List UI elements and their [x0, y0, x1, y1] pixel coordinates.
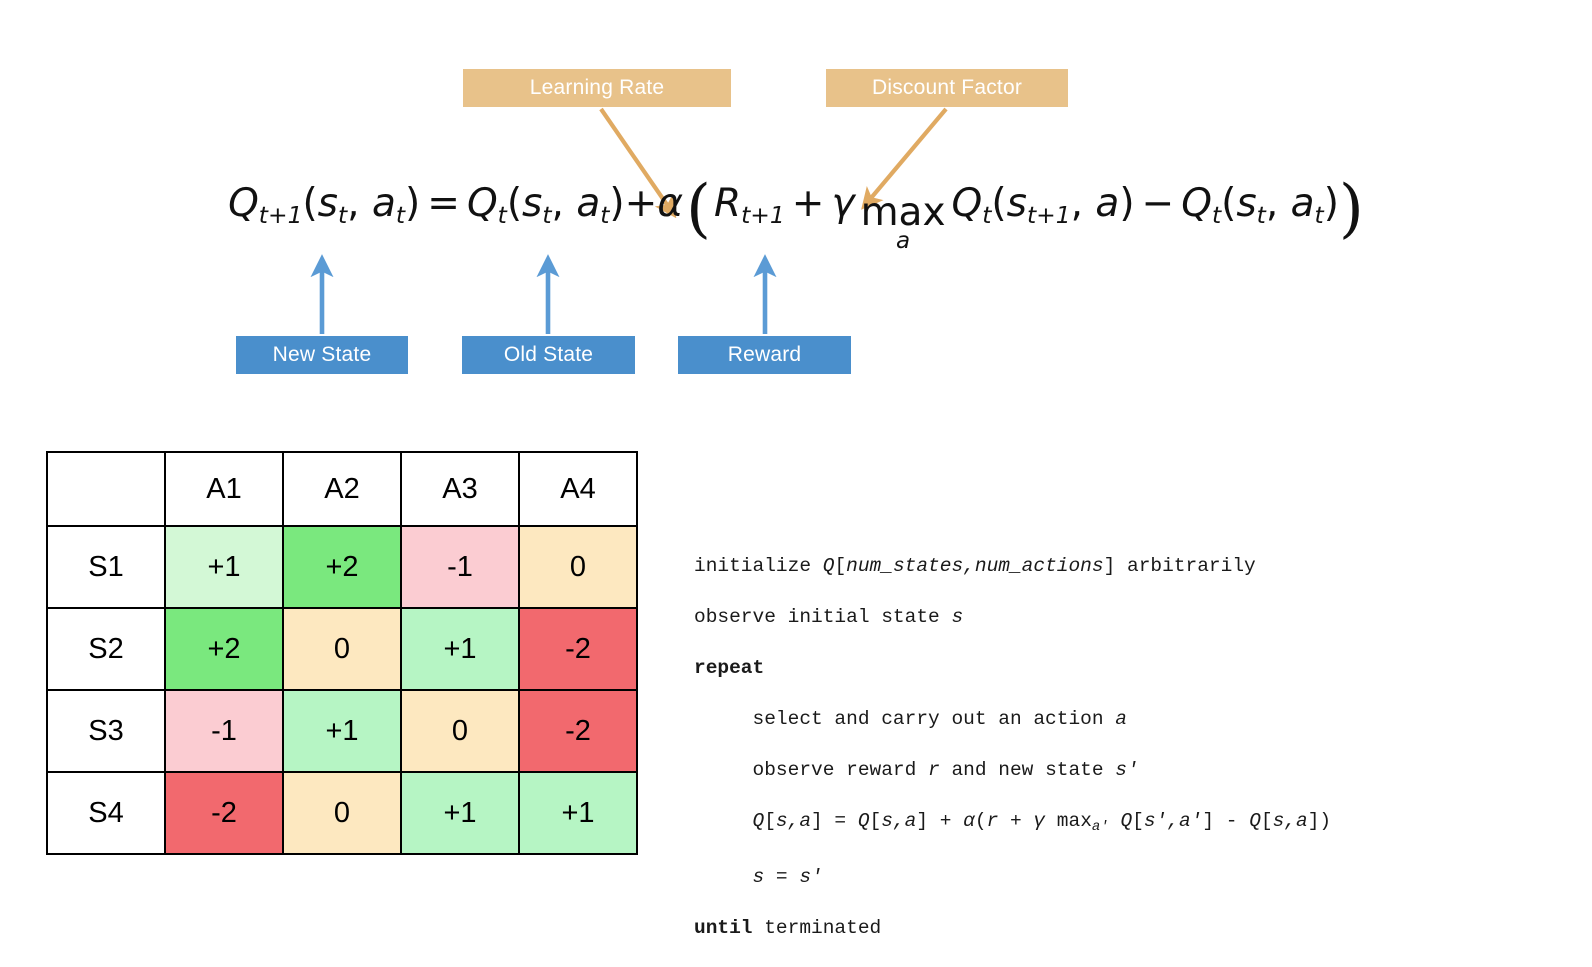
pseudocode-line-state-assign: s = s' — [694, 865, 1331, 891]
pseudocode-line-until: until terminated — [694, 916, 1331, 942]
pc-l6-max: max — [1045, 810, 1092, 832]
pc-l7-s2: s' — [799, 866, 822, 888]
pseudocode-line-select-action: select and carry out an action a — [694, 707, 1331, 733]
q-table-cell[interactable]: -1 — [165, 690, 283, 772]
formula-last-s: s — [1236, 181, 1256, 226]
q-table-cell[interactable]: -2 — [519, 690, 637, 772]
formula-lhs-open: ( — [302, 181, 317, 226]
formula-minus: − — [1135, 181, 1182, 226]
formula-lhs-close: ) — [405, 181, 420, 226]
pc-l6-q3: Q — [1120, 810, 1132, 832]
q-table-cell[interactable]: 0 — [283, 772, 401, 854]
formula-rhs-sub: t — [498, 201, 507, 229]
q-table-row-header: S4 — [47, 772, 165, 854]
pc-l1-q: Q — [823, 555, 835, 577]
pc-l6-t1: [ — [764, 810, 776, 832]
formula-next-a: a — [1095, 181, 1119, 226]
pc-l6-t6: + — [998, 810, 1033, 832]
pc-l6-sa3: s',a' — [1144, 810, 1203, 832]
q-table-row-header: S3 — [47, 690, 165, 772]
q-table-cell[interactable]: -2 — [165, 772, 283, 854]
learning-rate-callout-label: Learning Rate — [530, 76, 665, 100]
q-table-column-header: A1 — [165, 452, 283, 526]
formula-rhs-s-sub: t — [542, 201, 551, 229]
formula-lhs-a-sub: t — [396, 201, 405, 229]
pc-l8-rest: terminated — [753, 917, 882, 939]
q-table-column-header: A3 — [401, 452, 519, 526]
pc-l8-keyword: until — [694, 917, 753, 939]
q-table-cell[interactable]: +1 — [401, 608, 519, 690]
q-table-cell[interactable]: +1 — [401, 772, 519, 854]
pc-l6-t3: [ — [870, 810, 882, 832]
q-table-row: S1+1+2-10 — [47, 526, 637, 608]
pc-l4-a: select and carry out an action — [694, 708, 1115, 730]
q-table-cell[interactable]: 0 — [519, 526, 637, 608]
formula-lhs-q: Q — [228, 181, 259, 226]
q-table-cell[interactable]: +1 — [165, 526, 283, 608]
formula-lhs-sub: t+1 — [259, 201, 303, 229]
pc-l6-sa4: s,a — [1273, 810, 1308, 832]
pseudocode-line-initialize: initialize Q[num_states,num_actions] arb… — [694, 554, 1331, 580]
q-table-cell[interactable]: -2 — [519, 608, 637, 690]
q-value-table: A1A2A3A4S1+1+2-10S2+20+1-2S3-1+10-2S4-20… — [46, 451, 638, 855]
formula-last-a: a — [1291, 181, 1315, 226]
pc-l7-eq: = — [764, 866, 799, 888]
formula-last-q-sub: t — [1212, 201, 1221, 229]
q-table-header-row: A1A2A3A4 — [47, 452, 637, 526]
formula-last-open: ( — [1221, 181, 1236, 226]
pc-l5-b: and new state — [940, 759, 1116, 781]
q-table-row: S4-20+1+1 — [47, 772, 637, 854]
pc-l6-t10: [ — [1261, 810, 1273, 832]
formula-gamma: γ — [831, 181, 854, 226]
q-learning-formula: Qt+1(st, at)=Qt(st, at)+α(Rt+1+γmaxaQt(s… — [0, 172, 1592, 253]
formula-rhs-q: Q — [467, 181, 498, 226]
formula-next-s: s — [1007, 181, 1027, 226]
pseudocode-line-observe-initial: observe initial state s — [694, 605, 1331, 631]
formula-next-q: Q — [952, 181, 983, 226]
pc-l6-maxsub: a' — [1092, 818, 1109, 834]
pc-l6-sa2: s,a — [881, 810, 916, 832]
formula-lhs-s-sub: t — [338, 201, 347, 229]
formula-last-q: Q — [1181, 181, 1212, 226]
pseudocode-line-repeat: repeat — [694, 656, 1331, 682]
formula-next-open: ( — [991, 181, 1006, 226]
pc-l4-var: a — [1115, 708, 1127, 730]
pc-l7-s1: s — [753, 866, 765, 888]
formula-plus: + — [625, 181, 658, 226]
reward-callout: Reward — [678, 336, 851, 374]
pc-l2-s: s — [951, 606, 963, 628]
formula-last-comma: , — [1266, 181, 1291, 226]
pc-l2-a: observe initial state — [694, 606, 951, 628]
pc-l6-t4: ] + — [916, 810, 963, 832]
formula-last-s-sub: t — [1257, 201, 1266, 229]
pc-l6-t9: ] - — [1202, 810, 1249, 832]
pc-l1-a: initialize — [694, 555, 823, 577]
pc-l6-t8: [ — [1132, 810, 1144, 832]
formula-rhs-close: ) — [609, 181, 624, 226]
pc-l6-t5: ( — [975, 810, 987, 832]
formula-rhs-comma: , — [552, 181, 577, 226]
formula-equals: = — [420, 181, 467, 226]
formula-alpha: α — [657, 181, 683, 226]
pseudocode-line-q-update: Q[s,a] = Q[s,a] + α(r + γ maxa' Q[s',a']… — [694, 809, 1331, 840]
formula-lhs-s: s — [318, 181, 338, 226]
q-table-row-header: S1 — [47, 526, 165, 608]
pc-l6-r: r — [987, 810, 999, 832]
formula-rhs-s: s — [522, 181, 542, 226]
pc-l6-q2: Q — [858, 810, 870, 832]
formula-rhs-open: ( — [507, 181, 522, 226]
formula-next-comma: , — [1071, 181, 1096, 226]
formula-max-subscript: a — [896, 230, 910, 253]
discount-factor-callout-label: Discount Factor — [872, 76, 1022, 100]
learning-rate-callout: Learning Rate — [463, 69, 731, 107]
q-table-column-header: A2 — [283, 452, 401, 526]
old-state-callout: Old State — [462, 336, 635, 374]
pc-l6-gamma: γ — [1033, 810, 1045, 832]
q-table-cell[interactable]: -1 — [401, 526, 519, 608]
pseudocode-line-observe-reward: observe reward r and new state s' — [694, 758, 1331, 784]
q-table-row-header: S2 — [47, 608, 165, 690]
q-table-corner-cell — [47, 452, 165, 526]
formula-rhs-a: a — [576, 181, 600, 226]
pc-l6-q4: Q — [1249, 810, 1261, 832]
q-learning-pseudocode: initialize Q[num_states,num_actions] arb… — [694, 528, 1331, 967]
pc-l6-t7 — [1109, 810, 1121, 832]
q-table-row: S3-1+10-2 — [47, 690, 637, 772]
old-state-callout-label: Old State — [504, 343, 593, 367]
new-state-callout: New State — [236, 336, 408, 374]
formula-max-operator: maxa — [861, 193, 946, 253]
formula-last-a-sub: t — [1315, 201, 1324, 229]
formula-paren-open: ( — [683, 172, 714, 246]
pc-l6-alpha: α — [963, 810, 975, 832]
pc-l1-args: num_states,num_actions — [846, 555, 1103, 577]
pc-l1-b: [ — [834, 555, 846, 577]
formula-last-close: ) — [1324, 181, 1339, 226]
formula-paren-close: ) — [1339, 172, 1364, 246]
formula-next-s-sub: t+1 — [1027, 201, 1071, 229]
pc-l5-s: s' — [1115, 759, 1138, 781]
pc-l6-indent — [694, 810, 753, 832]
formula-next-close: ) — [1119, 181, 1134, 226]
pc-l6-sa1: s,a — [776, 810, 811, 832]
pc-l5-r: r — [928, 759, 940, 781]
reward-callout-label: Reward — [728, 343, 802, 367]
q-table-cell[interactable]: +1 — [519, 772, 637, 854]
q-table-cell[interactable]: +2 — [165, 608, 283, 690]
pc-l6-t11: ]) — [1308, 810, 1331, 832]
q-table-row: S2+20+1-2 — [47, 608, 637, 690]
q-table-column-header: A4 — [519, 452, 637, 526]
formula-lhs-comma: , — [347, 181, 372, 226]
formula-reward-r: R — [714, 181, 741, 226]
pc-l3-keyword: repeat — [694, 657, 764, 679]
pc-l5-a: observe reward — [694, 759, 928, 781]
formula-reward-sub: t+1 — [741, 201, 785, 229]
pc-l7-indent — [694, 866, 753, 888]
q-table-cell[interactable]: 0 — [283, 608, 401, 690]
new-state-callout-label: New State — [273, 343, 372, 367]
q-table-cell[interactable]: +1 — [283, 690, 401, 772]
formula-plus2: + — [785, 181, 832, 226]
pc-l1-c: ] arbitrarily — [1104, 555, 1256, 577]
q-table-cell[interactable]: 0 — [401, 690, 519, 772]
pc-l6-q1: Q — [753, 810, 765, 832]
q-table-cell[interactable]: +2 — [283, 526, 401, 608]
formula-max-label: max — [861, 193, 946, 232]
formula-lhs-a: a — [372, 181, 396, 226]
pc-l6-t2: ] = — [811, 810, 858, 832]
discount-factor-callout: Discount Factor — [826, 69, 1068, 107]
